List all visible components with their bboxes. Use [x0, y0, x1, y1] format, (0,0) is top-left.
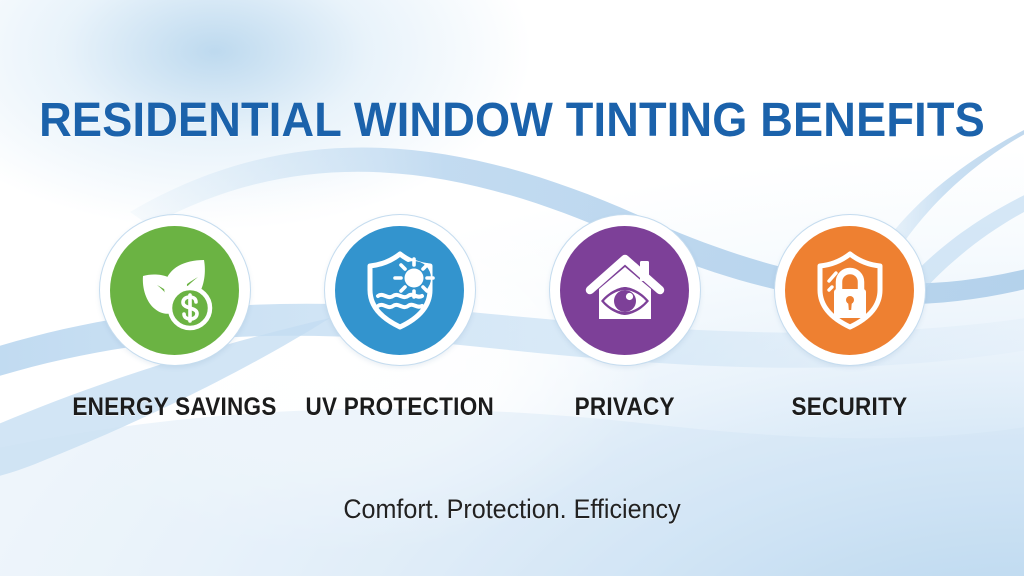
benefits-row: ENERGY SAVINGS	[0, 214, 1024, 422]
benefit-item-energy-savings[interactable]: ENERGY SAVINGS	[62, 214, 287, 422]
icon-ring-privacy	[549, 214, 701, 366]
benefit-item-privacy[interactable]: PRIVACY	[512, 214, 737, 422]
icon-disc-energy-savings	[110, 226, 239, 355]
benefit-item-security[interactable]: SECURITY	[737, 214, 962, 422]
icon-ring-energy-savings	[99, 214, 251, 366]
shield-padlock-icon	[807, 247, 893, 333]
benefit-label-energy-savings: ENERGY SAVINGS	[72, 392, 276, 422]
leaf-dollar-icon	[132, 247, 218, 333]
icon-ring-uv-protection	[324, 214, 476, 366]
shield-sun-waves-icon	[357, 247, 443, 333]
benefit-item-uv-protection[interactable]: UV PROTECTION	[287, 214, 512, 422]
house-eye-icon	[582, 247, 668, 333]
infographic-poster: RESIDENTIAL WINDOW TINTING BENEFITS	[0, 0, 1024, 576]
icon-disc-uv-protection	[335, 226, 464, 355]
tagline: Comfort. Protection. Efficiency	[36, 493, 988, 525]
benefit-label-privacy: PRIVACY	[574, 392, 674, 422]
benefit-label-security: SECURITY	[792, 392, 908, 422]
icon-disc-privacy	[560, 226, 689, 355]
icon-disc-security	[785, 226, 914, 355]
icon-ring-security	[774, 214, 926, 366]
benefit-label-uv-protection: UV PROTECTION	[305, 392, 494, 422]
page-title: RESIDENTIAL WINDOW TINTING BENEFITS	[31, 92, 994, 150]
